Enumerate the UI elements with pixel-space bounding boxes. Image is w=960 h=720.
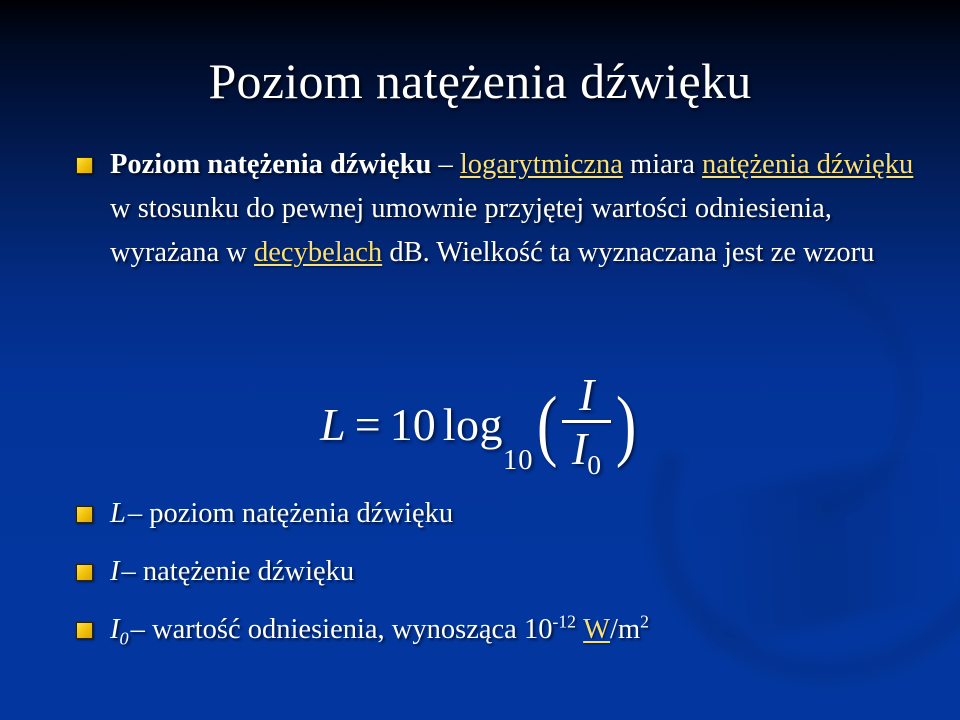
formula-numerator: I — [569, 372, 604, 420]
legend-item-L: L– poziom natężenia dźwięku — [76, 495, 936, 533]
legend-description-I0: wartość odniesienia, wynosząca — [145, 614, 524, 645]
legend-unit-rest: /m — [610, 614, 640, 645]
formula-denominator: I0 — [562, 423, 612, 479]
formula-paren-open: ( — [536, 395, 557, 457]
legend-dash-I: – — [122, 556, 136, 587]
bullet-square-icon — [76, 622, 93, 639]
presentation-slide: Poziom natężenia dźwięku Poziom natężeni… — [0, 0, 960, 720]
bullet-square-icon — [76, 506, 93, 523]
link-natezenia-dzwieku[interactable]: natężenia dźwięku — [702, 149, 913, 180]
formula-coefficient: 10 — [390, 402, 436, 448]
slide-title: Poziom natężenia dźwięku — [0, 52, 960, 110]
link-decybelach[interactable]: decybelach — [254, 237, 382, 268]
definition-spacer-2 — [453, 149, 460, 180]
legend-symbol-L: L — [110, 498, 128, 529]
definition-after-link1: miara — [623, 149, 702, 180]
legend-symbol-I: I — [110, 556, 122, 587]
formula-block: L = 10 log 10 ( I I0 ) — [0, 372, 960, 479]
definition-bullet: Poziom natężenia dźwięku – logarytmiczna… — [76, 143, 926, 275]
slide-body: Poziom natężenia dźwięku – logarytmiczna… — [76, 143, 926, 275]
definition-dash: – — [439, 149, 453, 180]
legend-description-L: poziom natężenia dźwięku — [142, 498, 453, 529]
bullet-square-icon — [76, 564, 93, 581]
formula-equals: = — [355, 402, 381, 448]
link-logarytmiczna[interactable]: logarytmiczna — [460, 149, 623, 180]
legend-text-I: I– natężenie dźwięku — [110, 553, 354, 591]
link-watt[interactable]: W — [583, 614, 610, 645]
formula-lhs: L — [320, 402, 346, 448]
formula-paren-close: ) — [616, 395, 637, 457]
legend-dash-L: – — [128, 498, 142, 529]
formula-fraction: I I0 — [562, 372, 612, 479]
legend-symbol-I0: I0 — [110, 614, 131, 645]
legend-value-mantissa: 10 — [524, 614, 553, 645]
legend-item-I: I– natężenie dźwięku — [76, 553, 936, 591]
legend-item-I0: I0– wartość odniesienia, wynosząca 10-12… — [76, 611, 936, 649]
legend-symbol-I0-base: I — [110, 614, 120, 645]
formula-log: log — [443, 402, 503, 448]
definition-tail: dB. Wielkość ta wyznaczana jest ze wzoru — [382, 237, 874, 268]
formula-expression: L = 10 log 10 ( I I0 ) — [320, 372, 640, 479]
bullet-square-icon — [76, 157, 93, 174]
legend-description-I: natężenie dźwięku — [136, 556, 354, 587]
legend-dash-I0: – — [131, 614, 145, 645]
legend-value-exponent: -12 — [552, 612, 576, 632]
formula-denominator-subscript: 0 — [587, 449, 601, 480]
formula-log-base: 10 — [503, 447, 534, 479]
legend-symbol-I0-subscript: 0 — [120, 629, 129, 649]
legend-text-I0: I0– wartość odniesienia, wynosząca 10-12… — [110, 611, 649, 649]
legend-list: L– poziom natężenia dźwięku I– natężenie… — [76, 495, 936, 669]
definition-text: Poziom natężenia dźwięku – logarytmiczna… — [110, 143, 926, 275]
formula-denominator-symbol: I — [572, 423, 587, 474]
legend-unit-exponent: 2 — [640, 612, 649, 632]
legend-text-L: L– poziom natężenia dźwięku — [110, 495, 453, 533]
definition-lead: Poziom natężenia dźwięku — [110, 149, 431, 180]
definition-spacer-1 — [431, 149, 438, 180]
